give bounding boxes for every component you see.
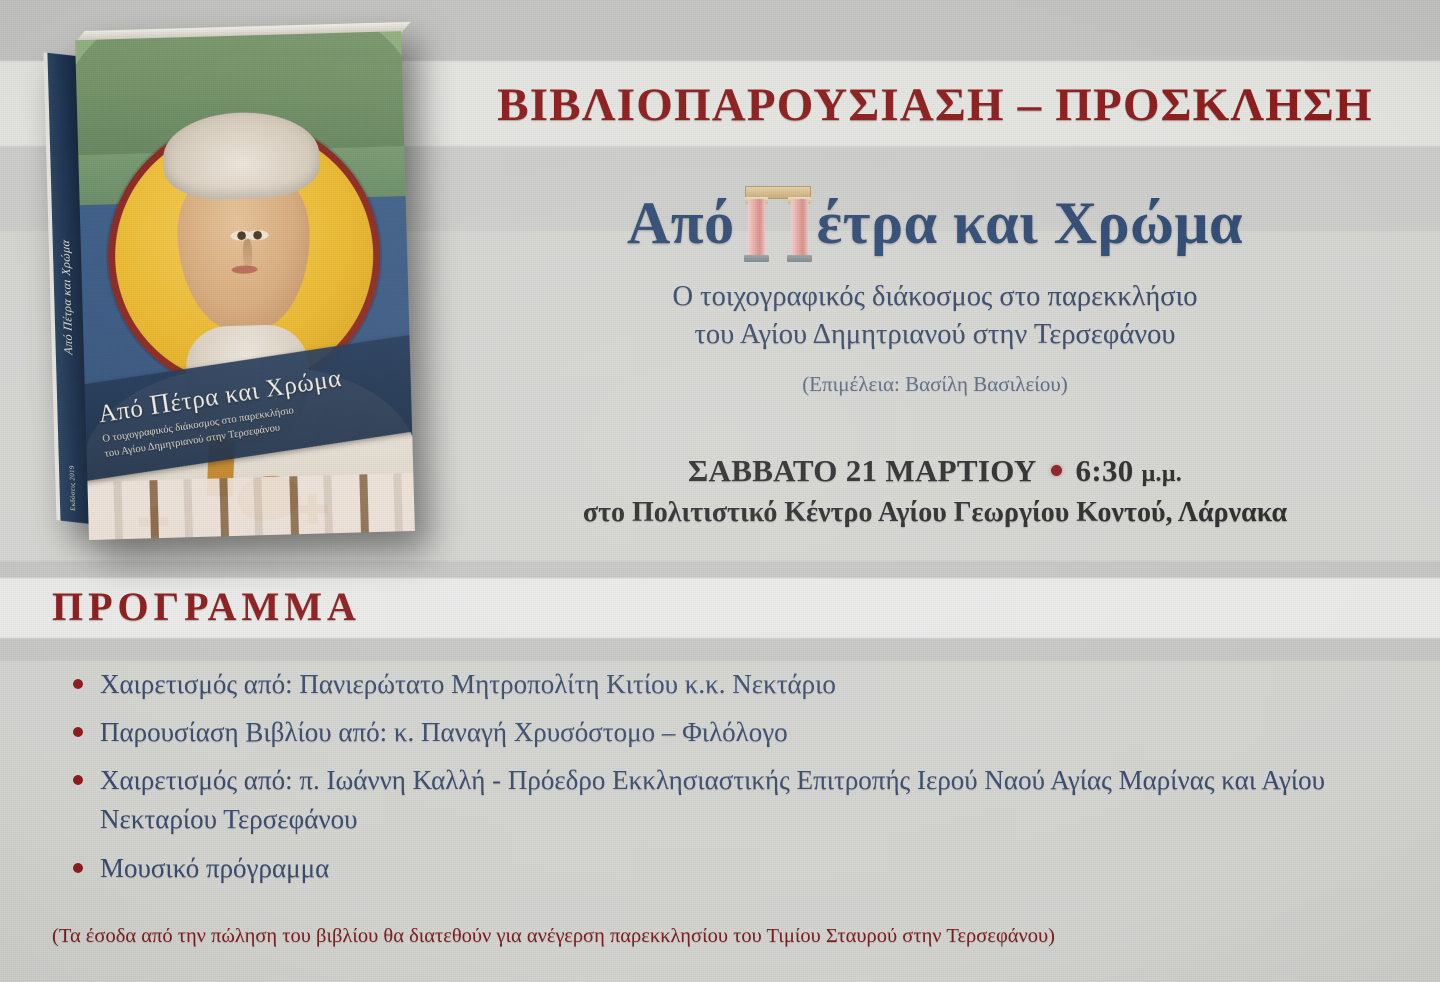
pi-column-left — [748, 199, 765, 262]
subtitle-line-2: του Αγίου Δημητριανού στην Τερσεφάνου — [455, 316, 1415, 354]
saint-nose — [242, 239, 252, 269]
red-dot-separator-icon — [1051, 465, 1062, 476]
pi-base-left — [744, 255, 769, 262]
book-spine-title: Από Πέτρα και Χρώμα — [58, 239, 76, 356]
subtitle-line-1: Ο τοιχογραφικός διάκοσμος στο παρεκκλήσι… — [455, 278, 1415, 316]
event-time-suffix: μ.μ. — [1142, 461, 1182, 487]
invitation-poster: Από Πέτρα και Χρώμα Εκδόσεις 2019 — [0, 0, 1440, 982]
title-word-before: Από — [627, 189, 735, 258]
event-time: 6:30 — [1076, 453, 1134, 488]
poster-headline: ΒΙΒΛΙΟΠΑΡΟΥΣΙΑΣΗ – ΠΡΟΣΚΛΗΣΗ — [455, 78, 1415, 132]
page-title: Από έτρα και Χρώμα — [455, 186, 1415, 258]
book-cover-title-before: Από — [97, 395, 146, 428]
list-item: Χαιρετισμός από: Πανιερώτατο Μητροπολίτη… — [70, 665, 1410, 704]
book-cover-image: Από Πέτρα και Χρώμα Εκδόσεις 2019 — [28, 26, 448, 566]
event-venue: στο Πολιτιστικό Κέντρο Αγίου Γεωργίου Κο… — [455, 497, 1415, 529]
programme-list: Χαιρετισμός από: Πανιερώτατο Μητροπολίτη… — [70, 665, 1410, 897]
list-item: Χαιρετισμός από: π. Ιωάννη Καλλή - Πρόεδ… — [70, 761, 1410, 839]
programme-heading: ΠΡΟΓΡΑΜΜΑ — [52, 583, 361, 630]
book-3d: Από Πέτρα και Χρώμα Εκδόσεις 2019 — [43, 31, 417, 541]
icon-lower-border — [87, 473, 414, 540]
event-date: ΣΑΒΒΑΤΟ 21 ΜΑΡΤΙΟΥ — [688, 453, 1037, 488]
list-item: Μουσικό πρόγραμμα — [70, 849, 1410, 888]
book-front-cover: Από Πέτρα και Χρώμα Ο τοιχογραφικός διάκ… — [75, 31, 415, 540]
title-word-after: έτρα και Χρώμα — [817, 189, 1243, 258]
saint-mouth — [231, 266, 257, 275]
event-datetime: ΣΑΒΒΑΤΟ 21 ΜΑΡΤΙΟΥ6:30 μ.μ. — [455, 453, 1415, 489]
editor-credit: (Επιμέλεια: Βασίλη Βασιλείου) — [455, 372, 1415, 397]
list-item: Παρουσίαση Βιβλίου από: κ. Παναγή Χρυσόσ… — [70, 713, 1410, 752]
pi-base-right — [787, 255, 812, 262]
page-subtitle: Ο τοιχογραφικός διάκοσμος στο παρεκκλήσι… — [455, 278, 1415, 354]
pi-columns-icon — [745, 186, 811, 262]
pi-column-right — [791, 199, 808, 262]
book-spine-publisher: Εκδόσεις 2019 — [68, 465, 77, 511]
proceeds-footnote: (Τα έσοδα από την πώληση του βιβλίου θα … — [52, 925, 1412, 948]
